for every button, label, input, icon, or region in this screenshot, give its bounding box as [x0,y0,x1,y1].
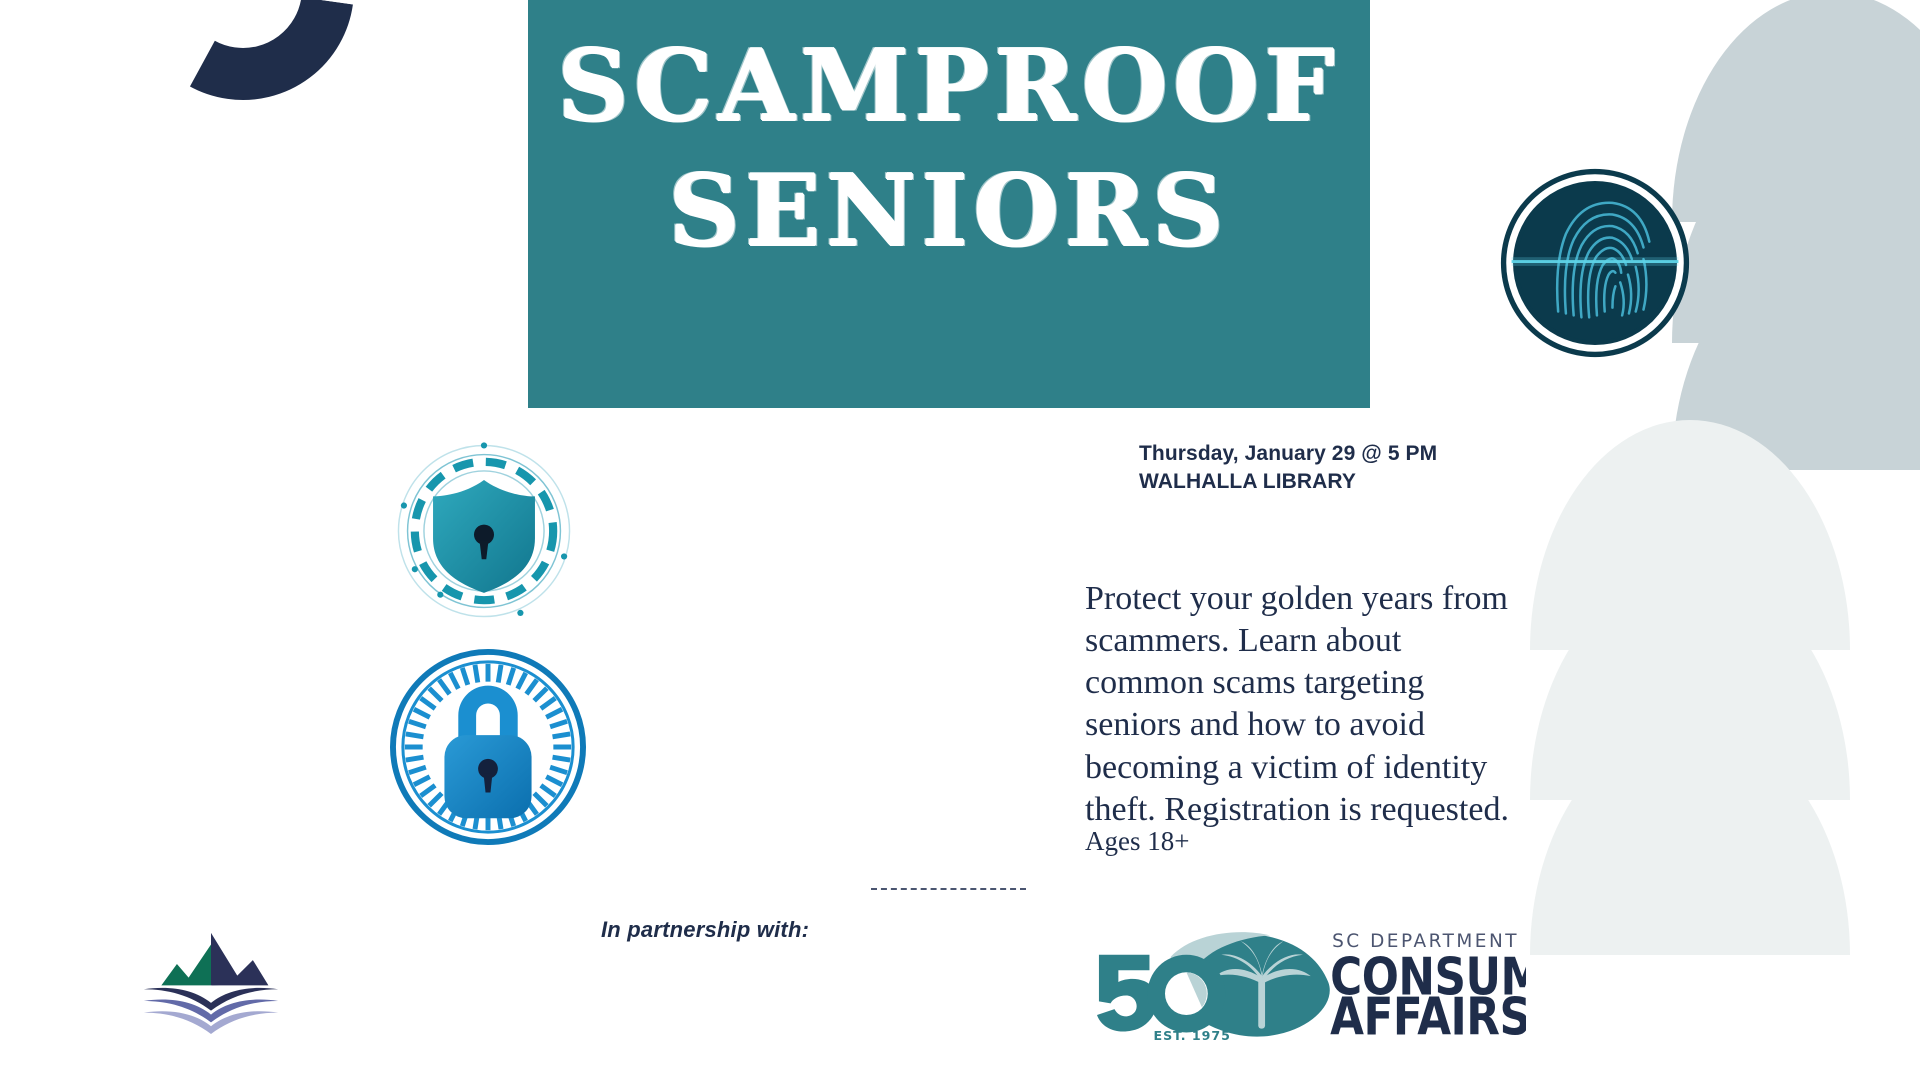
sc-consumer-affairs-logo: EST. 1975 SC DEPARTMENT OF CONSUMER AFFA… [1076,912,1526,1048]
decorative-crescent-shape [118,0,369,114]
page-title-line-2: SENIORS [669,149,1229,274]
event-details: Thursday, January 29 @ 5 PM WALHALLA LIB… [1139,440,1437,496]
page-title-line-1: SCAMPROOF [558,24,1341,149]
shield-keyhole-icon [383,440,585,622]
event-description: Protect your golden years from scammers.… [1085,578,1527,831]
event-datetime: Thursday, January 29 @ 5 PM [1139,440,1437,468]
event-location: WALHALLA LIBRARY [1139,468,1437,496]
fingerprint-scan-icon [1497,166,1693,360]
scdca-est-text: EST. 1975 [1153,1028,1230,1043]
dashed-divider [871,888,1026,890]
library-mountain-book-logo [138,925,284,1037]
partnership-label: In partnership with: [601,917,809,943]
title-banner: SCAMPROOF SENIORS [528,0,1370,408]
age-restriction: Ages 18+ [1085,826,1189,857]
scdca-line3: AFFAIRS [1330,988,1526,1047]
padlock-icon [388,648,588,846]
